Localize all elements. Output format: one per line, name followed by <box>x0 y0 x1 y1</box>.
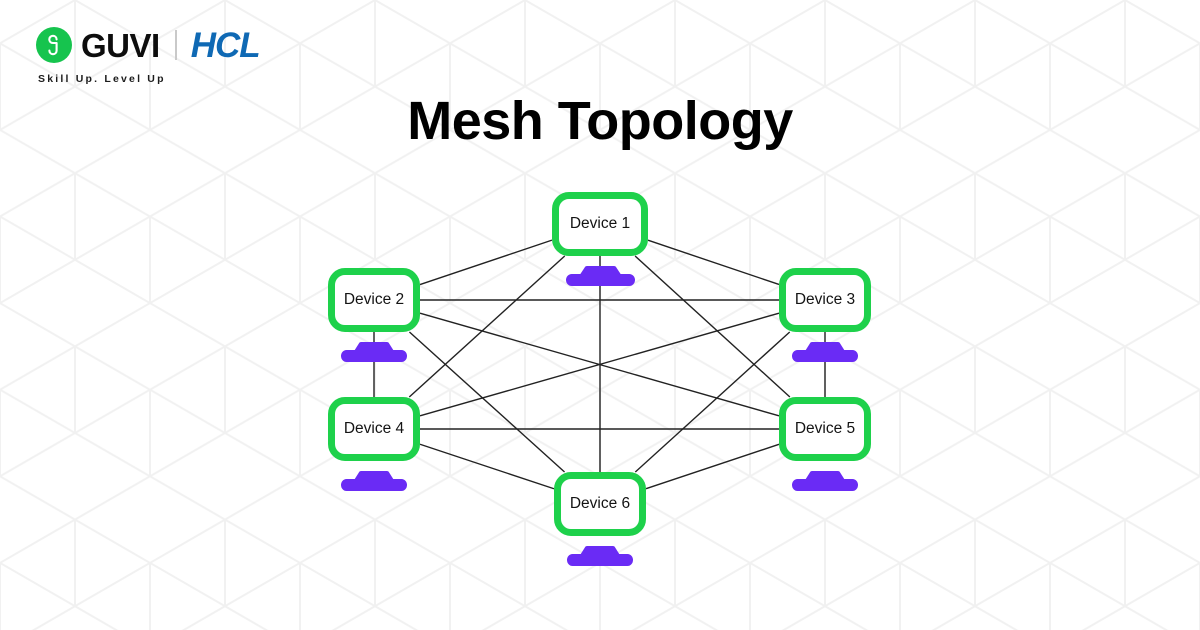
device-label: Device 4 <box>344 420 404 438</box>
device-node-6[interactable]: Device 6 <box>554 472 646 566</box>
device-screen-icon: Device 2 <box>328 268 420 332</box>
device-screen-icon: Device 3 <box>779 268 871 332</box>
brand-header: GUVI HCL Skill Up. Level Up <box>36 22 260 85</box>
device-stand-icon <box>566 265 635 289</box>
device-label: Device 3 <box>795 291 855 309</box>
device-node-5[interactable]: Device 5 <box>779 397 871 491</box>
brand-logo-row: GUVI HCL <box>36 22 260 68</box>
device-screen-icon: Device 1 <box>552 192 648 256</box>
device-label: Device 2 <box>344 291 404 309</box>
device-stand-icon <box>792 341 858 365</box>
device-screen-icon: Device 5 <box>779 397 871 461</box>
device-screen-icon: Device 4 <box>328 397 420 461</box>
device-label: Device 6 <box>570 495 630 513</box>
device-node-3[interactable]: Device 3 <box>779 268 871 362</box>
device-stand-icon <box>567 545 633 569</box>
device-node-4[interactable]: Device 4 <box>328 397 420 491</box>
device-stand-icon <box>341 341 407 365</box>
guvi-wordmark: GUVI <box>81 29 160 62</box>
device-screen-icon: Device 6 <box>554 472 646 536</box>
device-stand-icon <box>792 470 858 494</box>
page-title: Mesh Topology <box>0 90 1200 152</box>
vertical-divider-icon <box>175 30 177 60</box>
device-label: Device 1 <box>570 215 630 233</box>
brand-tagline: Skill Up. Level Up <box>38 73 166 85</box>
device-label: Device 5 <box>795 420 855 438</box>
device-stand-icon <box>341 470 407 494</box>
guvi-g-logo-icon <box>36 27 72 63</box>
hcl-wordmark: HCL <box>191 28 260 63</box>
device-node-1[interactable]: Device 1 <box>552 192 648 286</box>
device-node-2[interactable]: Device 2 <box>328 268 420 362</box>
